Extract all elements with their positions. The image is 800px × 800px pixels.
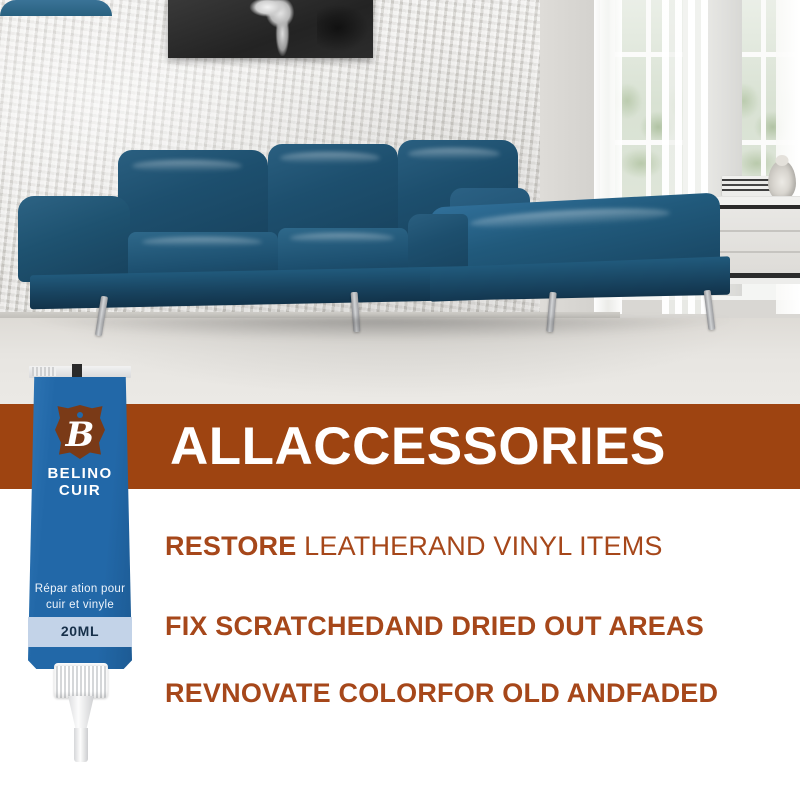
brand-name: BELINO CUIR (28, 465, 132, 499)
feature-lead: REVNOVATE COLORFOR OLD ANDFADED (165, 678, 718, 708)
feature-lead: RESTORE (165, 531, 296, 561)
sofa-arm-top (0, 0, 112, 16)
brand-logo: B (55, 405, 105, 459)
sofa-highlight (290, 233, 394, 243)
sofa-highlight (280, 152, 380, 164)
volume-band: 20ML (28, 617, 132, 647)
sofa-highlight (470, 205, 670, 231)
feature-lead: FIX SCRATCHEDAND DRIED OUT AREAS (165, 611, 704, 641)
logo-letter: B (55, 414, 105, 456)
feature-item: RESTORE LEATHERAND VINYL ITEMS (165, 533, 663, 560)
tube-crimp-notch (72, 364, 82, 378)
sofa-arm (18, 196, 130, 282)
tube-description: Répar ation pour cuir et vinyle (28, 581, 132, 613)
room-photo (0, 0, 800, 410)
product-tube: B BELINO CUIR Répar ation pour cuir et v… (10, 366, 150, 786)
feature-item: REVNOVATE COLORFOR OLD ANDFADED (165, 680, 718, 707)
sofa-highlight (132, 160, 242, 172)
sofa-highlight (142, 237, 262, 247)
leather-sofa (0, 0, 800, 410)
sofa-floor-shadow (30, 318, 730, 340)
tube-tip (74, 728, 88, 762)
headline-title: ALLACCESSORIES (170, 414, 800, 480)
product-advertisement: ALLACCESSORIES RESTORE LEATHERAND VINYL … (0, 0, 800, 800)
feature-item: FIX SCRATCHEDAND DRIED OUT AREAS (165, 613, 704, 640)
tube-description-line2: cuir et vinyle (28, 597, 132, 613)
tube-crimp-ridges (32, 367, 56, 376)
tube-description-line1: Répar ation pour (28, 581, 132, 597)
sofa-highlight (408, 148, 500, 160)
feature-rest: LEATHERAND VINYL ITEMS (296, 531, 662, 561)
tube-cap (54, 666, 108, 698)
tube-nozzle (68, 696, 94, 730)
volume-label: 20ML (28, 623, 132, 639)
